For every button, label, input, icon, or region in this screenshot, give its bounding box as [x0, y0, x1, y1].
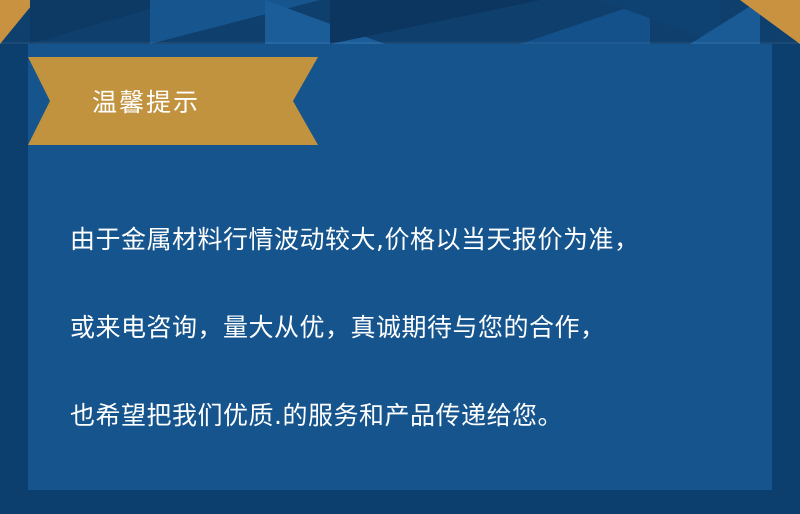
notice-ribbon: 温馨提示: [28, 57, 318, 145]
notice-paragraph: 由于金属材料行情波动较大,价格以当天报价为准， 或来电咨询，量大从优，真诚期待与…: [70, 196, 750, 460]
promotional-poster: 温馨提示 由于金属材料行情波动较大,价格以当天报价为准， 或来电咨询，量大从优，…: [0, 0, 800, 514]
notice-line-1: 由于金属材料行情波动较大,价格以当天报价为准，: [70, 196, 750, 284]
frame-bottom: [0, 490, 800, 514]
notice-line-3: 也希望把我们优质.的服务和产品传递给您。: [70, 372, 750, 460]
notice-line-2: 或来电咨询，量大从优，真诚期待与您的合作，: [70, 284, 750, 372]
frame-right: [772, 44, 800, 514]
band-shape-dark-2: [330, 0, 540, 44]
band-shape-gold-right: [740, 0, 800, 44]
notice-ribbon-label: 温馨提示: [92, 83, 200, 119]
frame-left: [0, 44, 28, 514]
top-decorative-band: [0, 0, 800, 44]
